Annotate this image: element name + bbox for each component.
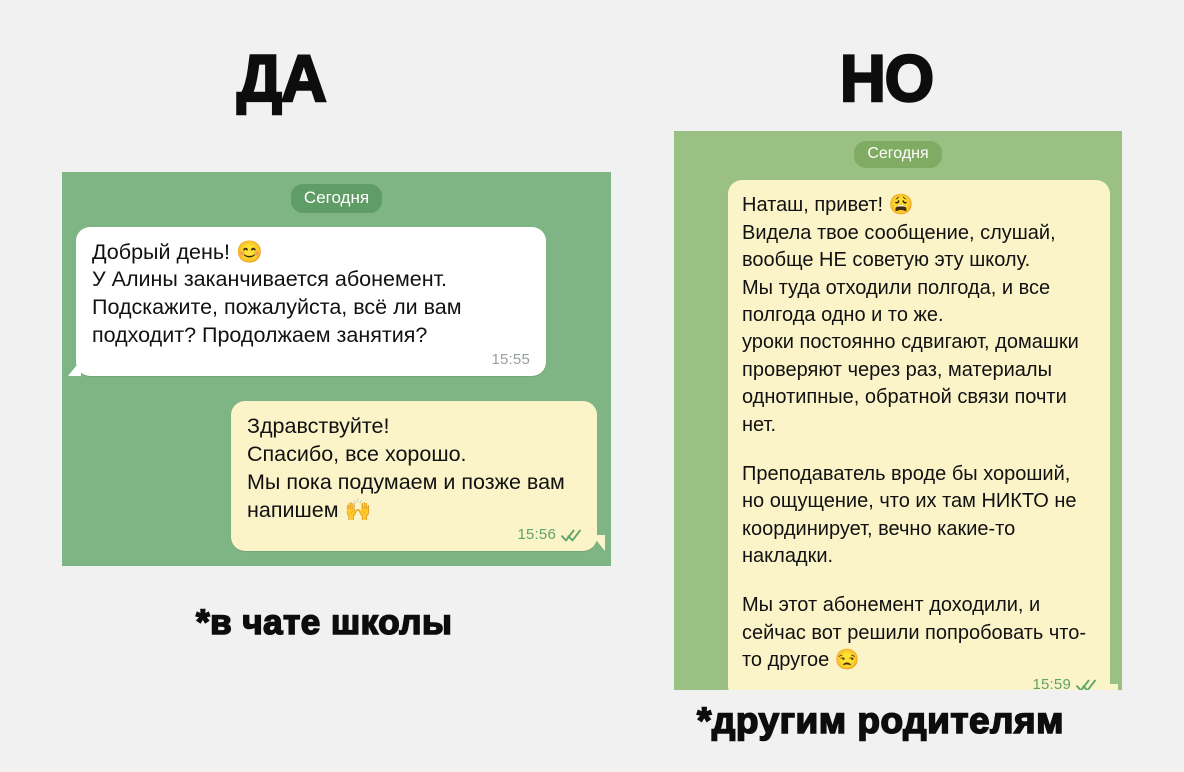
date-pill-label: Сегодня <box>291 184 382 213</box>
message-line: нет. <box>742 412 1096 439</box>
date-separator-right: Сегодня <box>686 141 1110 168</box>
message-line: Мы пока подумаем и позже вам <box>247 469 581 497</box>
message-bubble-incoming[interactable]: Добрый день! 😊 У Алины заканчивается або… <box>76 227 546 377</box>
message-line: но ощущение, что их там НИКТО не <box>742 488 1096 515</box>
message-timestamp: 15:59 <box>1032 677 1071 690</box>
poster-canvas: ДА НО Сегодня Добрый день! 😊 У Алины зак… <box>0 0 1184 772</box>
message-bubble-outgoing[interactable]: Здравствуйте! Спасибо, все хорошо. Мы по… <box>231 401 597 551</box>
message-line: подходит? Продолжаем занятия? <box>92 322 530 350</box>
message-line: то другое 😒 <box>742 647 1096 674</box>
message-timestamp: 15:56 <box>517 527 556 542</box>
paragraph-gap <box>742 439 1096 461</box>
chat-panel-right: Сегодня Наташ, привет! 😩 Видела твое соо… <box>674 131 1122 690</box>
message-line: Спасибо, все хорошо. <box>247 441 581 469</box>
message-line: координирует, вечно какие-то <box>742 516 1096 543</box>
message-timestamp: 15:55 <box>491 352 530 367</box>
message-thread-right: Сегодня Наташ, привет! 😩 Видела твое соо… <box>674 131 1122 690</box>
message-line: Видела твое сообщение, слушай, <box>742 220 1096 247</box>
caption-right: *другим родителям <box>697 702 1064 739</box>
message-line: Мы этот абонемент доходили, и <box>742 592 1096 619</box>
double-check-icon <box>1076 679 1096 690</box>
message-line: Добрый день! 😊 <box>92 239 530 267</box>
message-line: Мы туда отходили полгода, и все <box>742 275 1096 302</box>
heading-da: ДА <box>237 45 326 111</box>
message-line: напишем 🙌 <box>247 497 581 525</box>
message-line: Здравствуйте! <box>247 413 581 441</box>
date-pill-label: Сегодня <box>854 141 941 168</box>
message-line: Подскажите, пожалуйста, всё ли вам <box>92 294 530 322</box>
message-line: Преподаватель вроде бы хороший, <box>742 461 1096 488</box>
message-meta: 15:55 <box>92 352 530 367</box>
message-line: однотипные, обратной связи почти <box>742 384 1096 411</box>
message-bubble-outgoing[interactable]: Наташ, привет! 😩 Видела твое сообщение, … <box>728 180 1110 690</box>
date-separator-left: Сегодня <box>76 184 597 213</box>
message-meta: 15:59 <box>742 677 1096 690</box>
message-line: уроки постоянно сдвигают, домашки <box>742 329 1096 356</box>
message-meta: 15:56 <box>247 527 581 542</box>
message-thread-left: Сегодня Добрый день! 😊 У Алины заканчива… <box>62 172 611 551</box>
message-line: накладки. <box>742 543 1096 570</box>
caption-left: *в чате школы <box>196 605 452 640</box>
message-line: У Алины заканчивается абонемент. <box>92 266 530 294</box>
message-line: вообще НЕ советую эту школу. <box>742 247 1096 274</box>
paragraph-gap <box>742 570 1096 592</box>
message-line: проверяют через раз, материалы <box>742 357 1096 384</box>
message-line: сейчас вот решили попробовать что- <box>742 620 1096 647</box>
double-check-icon <box>561 529 581 542</box>
heading-no: НО <box>840 45 933 111</box>
chat-panel-left: Сегодня Добрый день! 😊 У Алины заканчива… <box>62 172 611 566</box>
message-line: полгода одно и то же. <box>742 302 1096 329</box>
message-line: Наташ, привет! 😩 <box>742 192 1096 219</box>
